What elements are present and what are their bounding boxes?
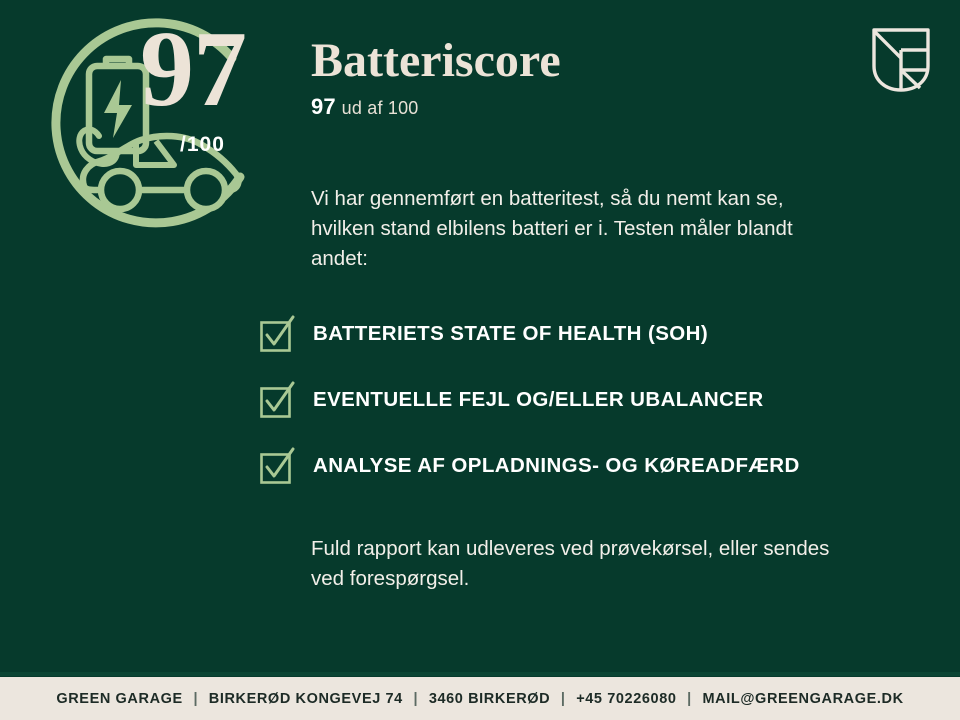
checklist-item-label: ANALYSE AF OPLADNINGS- OG KØREADFÆRD bbox=[313, 454, 800, 478]
footer-address: BIRKERØD KONGEVEJ 74 bbox=[209, 691, 403, 707]
checklist: BATTERIETS STATE OF HEALTH (SOH) EVENTUE… bbox=[259, 306, 879, 504]
footer-separator: | bbox=[555, 691, 572, 707]
checklist-item-label: BATTERIETS STATE OF HEALTH (SOH) bbox=[313, 322, 708, 346]
checkbox-checked-icon bbox=[259, 315, 297, 353]
checklist-item: BATTERIETS STATE OF HEALTH (SOH) bbox=[259, 306, 879, 362]
score-denominator: /100 bbox=[180, 133, 225, 157]
footer-separator: | bbox=[408, 691, 425, 707]
footer-bar: GREEN GARAGE | BIRKERØD KONGEVEJ 74 | 34… bbox=[0, 677, 960, 720]
title-block: Batteriscore 97 ud af 100 bbox=[311, 36, 851, 120]
score-value: 97 bbox=[140, 16, 246, 124]
footer-postal-city: 3460 BIRKERØD bbox=[429, 691, 550, 707]
score-subtitle-value: 97 bbox=[311, 94, 336, 119]
footer-company: GREEN GARAGE bbox=[56, 691, 182, 707]
intro-paragraph: Vi har gennemført en batteritest, så du … bbox=[311, 184, 841, 274]
outro-paragraph: Fuld rapport kan udleveres ved prøvekørs… bbox=[311, 534, 851, 594]
footer-separator: | bbox=[187, 691, 204, 707]
checklist-item-label: EVENTUELLE FEJL OG/ELLER UBALANCER bbox=[313, 388, 764, 412]
footer-separator: | bbox=[681, 691, 698, 707]
score-subtitle: 97 ud af 100 bbox=[311, 94, 851, 120]
footer-phone[interactable]: +45 70226080 bbox=[576, 691, 676, 707]
checklist-item: EVENTUELLE FEJL OG/ELLER UBALANCER bbox=[259, 372, 879, 428]
checklist-item: ANALYSE AF OPLADNINGS- OG KØREADFÆRD bbox=[259, 438, 879, 494]
page-title: Batteriscore bbox=[311, 36, 851, 86]
footer-contact-line: GREEN GARAGE | BIRKERØD KONGEVEJ 74 | 34… bbox=[56, 691, 903, 707]
footer-email[interactable]: MAIL@GREENGARAGE.DK bbox=[702, 691, 903, 707]
batteriscore-slide: 97 /100 Batteriscore 97 ud af 100 Vi har… bbox=[0, 0, 960, 720]
footer-divider bbox=[0, 672, 960, 676]
green-garage-shield-icon bbox=[870, 26, 932, 94]
checkbox-checked-icon bbox=[259, 447, 297, 485]
score-subtitle-suffix: ud af 100 bbox=[342, 98, 419, 118]
checkbox-checked-icon bbox=[259, 381, 297, 419]
